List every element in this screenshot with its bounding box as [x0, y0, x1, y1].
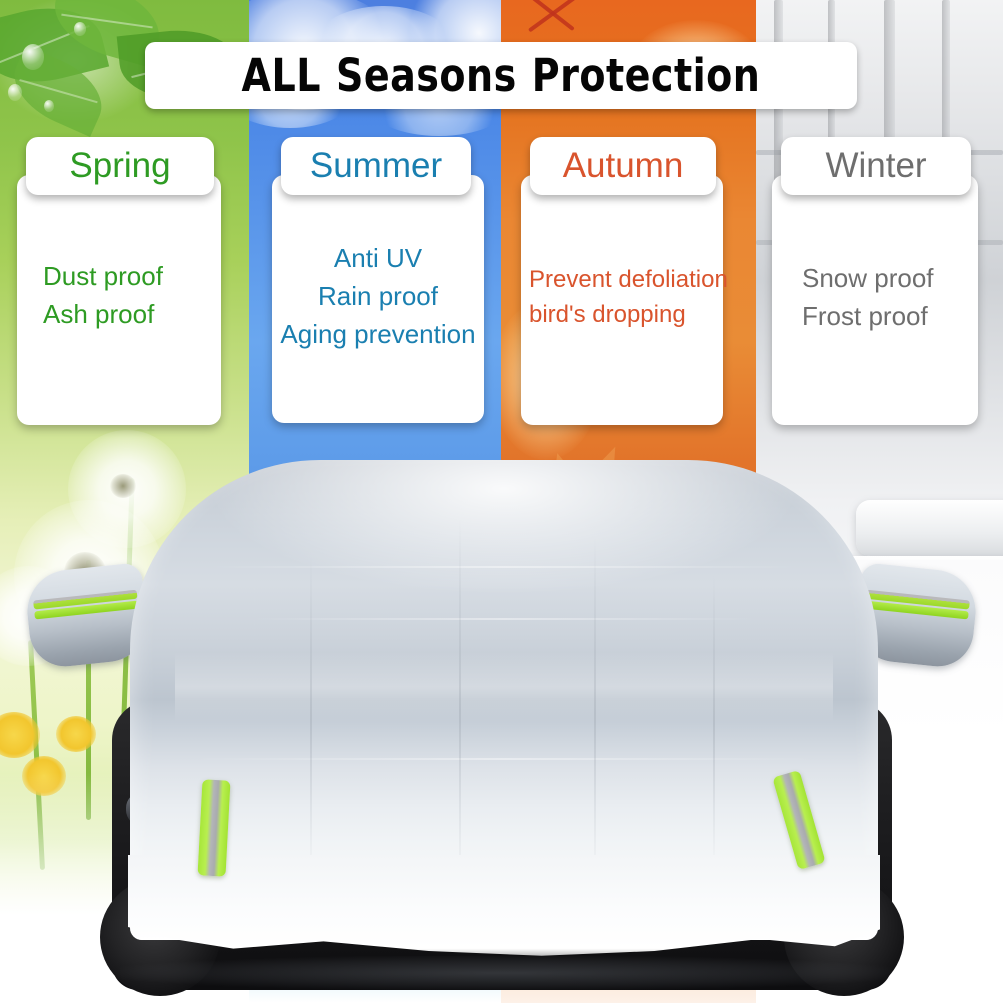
dewdrop-icon	[74, 22, 86, 36]
season-feature: Anti UV	[334, 240, 422, 278]
season-feature: Dust proof	[43, 258, 163, 296]
page-title: ALLSeasonsProtection	[242, 49, 761, 102]
car-with-cover-illustration	[0, 400, 1003, 1003]
cover-crease	[250, 618, 759, 620]
season-card-header-spring: Spring	[26, 137, 214, 195]
season-feature: Frost proof	[802, 298, 928, 336]
product-marketing-image: ALLSeasonsProtection Spring Dust proof A…	[0, 0, 1003, 1003]
season-card-header-summer: Summer	[281, 137, 471, 195]
season-feature-list-summer: Anti UV Rain proof Aging prevention	[272, 240, 484, 354]
season-card-header-winter: Winter	[781, 137, 971, 195]
title-word-all: ALL	[242, 49, 321, 102]
cover-fold	[310, 556, 312, 882]
reflective-strip-left	[198, 779, 231, 876]
dewdrop-icon	[44, 100, 54, 112]
season-feature: Aging prevention	[280, 316, 475, 354]
dewdrop-icon	[8, 84, 22, 101]
title-word-protection: Protection	[532, 49, 761, 102]
dewdrop-icon	[22, 44, 44, 70]
season-feature: bird's dropping	[529, 297, 686, 332]
title-word-seasons: Seasons	[336, 49, 517, 102]
season-feature: Prevent defoliation	[529, 262, 728, 297]
season-feature-list-autumn: Prevent defoliation bird's dropping	[521, 262, 733, 332]
season-title-autumn: Autumn	[563, 146, 684, 186]
season-card-header-autumn: Autumn	[530, 137, 716, 195]
season-feature: Ash proof	[43, 296, 154, 334]
season-feature-list-spring: Dust proof Ash proof	[17, 258, 221, 334]
cover-crease	[190, 758, 818, 760]
season-title-spring: Spring	[69, 146, 170, 186]
season-feature: Rain proof	[318, 278, 438, 316]
cover-crease	[205, 566, 803, 568]
cover-fold	[713, 575, 715, 873]
cover-fold	[459, 518, 461, 902]
season-feature: Snow proof	[802, 260, 934, 298]
title-banner: ALLSeasonsProtection	[145, 42, 857, 109]
ground-shadow	[120, 956, 890, 990]
cover-sheen	[175, 652, 833, 722]
season-feature-list-winter: Snow proof Frost proof	[772, 260, 978, 336]
season-title-winter: Winter	[825, 146, 926, 186]
cover-fold	[594, 537, 596, 892]
season-title-summer: Summer	[310, 146, 442, 186]
